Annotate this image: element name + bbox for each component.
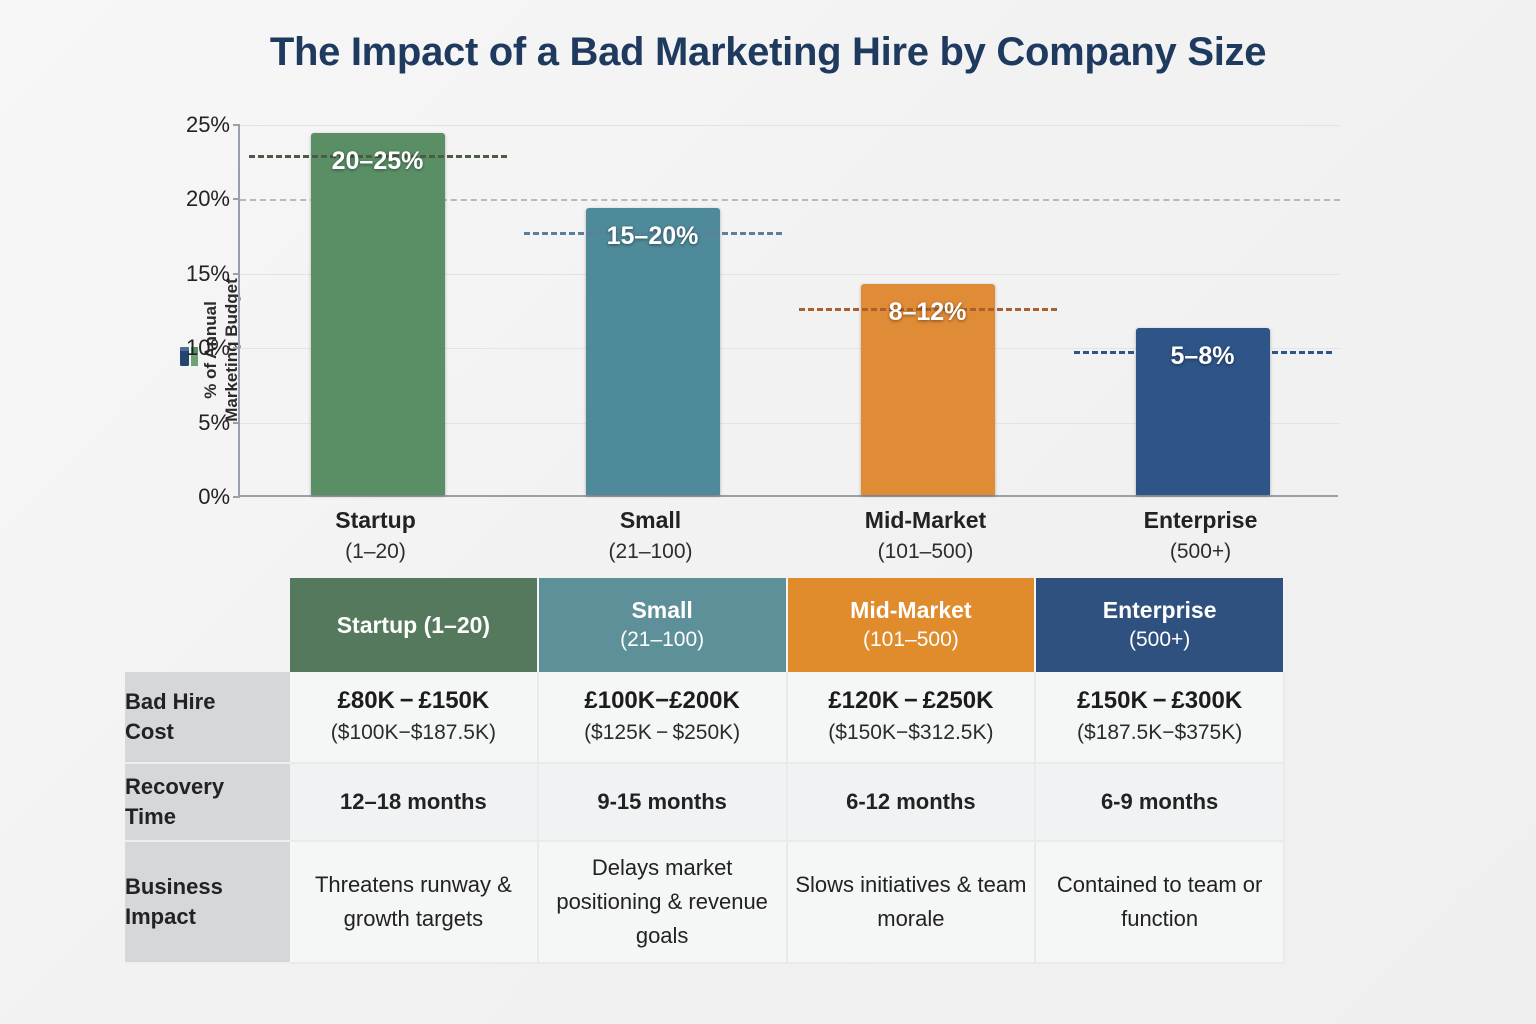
bar-small[interactable]: 15–20% [586,208,720,495]
plot-area: 0%5%10%15%20%25%20–25%15–20%8–12%5–8% [238,125,1338,497]
table-column-header-0: Startup (1–20) [290,578,539,672]
cell-text: 9-15 months [539,785,786,819]
x-axis-category-range: (500+) [1063,537,1338,567]
table-cell: 9-15 months [539,764,788,842]
cell-primary-value: £120K − £250K [788,685,1035,717]
column-header-name: Mid-Market [850,597,971,623]
table-row: Business ImpactThreatens runway & growth… [125,842,1285,964]
range-marker-line [249,155,507,158]
cell-secondary-value: ($150K−$312.5K) [788,717,1035,749]
y-axis-tick-label: 20% [160,186,230,212]
table-row-label: Recovery Time [125,764,290,842]
x-axis-category-name: Mid-Market [865,507,986,533]
table-body: Bad Hire Cost£80K − £150K($100K−$187.5K)… [125,672,1285,964]
cell-text: 12–18 months [290,785,537,819]
y-axis-tick-label: 0% [160,484,230,510]
table-cell: Slows initiatives & team morale [788,842,1037,964]
cell-secondary-value: ($125K − $250K) [539,717,786,749]
cell-primary-value: £80K − £150K [290,685,537,717]
cell-primary-value: £150K − £300K [1036,685,1283,717]
table-cell: Threatens runway & growth targets [290,842,539,964]
cell-secondary-value: ($187.5K−$375K) [1036,717,1283,749]
bar-value-label: 15–20% [538,222,768,251]
table-cell: 12–18 months [290,764,539,842]
x-axis-category-label: Enterprise(500+) [1063,505,1338,567]
cell-text: 6-9 months [1036,785,1283,819]
comparison-table: Startup (1–20)Small(21–100)Mid-Market(10… [125,578,1285,964]
table-row: Recovery Time12–18 months9-15 months6-12… [125,764,1285,842]
x-axis-category-range: (101–500) [788,537,1063,567]
range-marker-line [1074,351,1332,354]
table-cell: Contained to team or function [1036,842,1285,964]
cell-text: 6-12 months [788,785,1035,819]
table-column-header-2: Mid-Market(101–500) [788,578,1037,672]
table-cell: Delays market positioning & revenue goal… [539,842,788,964]
bar-value-label: 8–12% [813,298,1043,327]
column-header-range: (500+) [1036,625,1283,655]
cell-text: Delays market positioning & revenue goal… [539,851,786,953]
table-cell: £120K − £250K($150K−$312.5K) [788,672,1037,764]
y-axis-tick-label: 5% [160,410,230,436]
bar-startup[interactable]: 20–25% [311,133,445,495]
page-title: The Impact of a Bad Marketing Hire by Co… [0,30,1536,75]
y-axis-tick-mark [233,124,240,126]
y-axis-tick-mark [233,347,240,349]
table-cell: 6-12 months [788,764,1037,842]
y-axis-tick-mark [233,422,240,424]
table-corner-cell [125,578,290,672]
range-marker-line [799,308,1057,311]
column-header-range: (101–500) [788,625,1035,655]
cell-text: Slows initiatives & team morale [788,868,1035,936]
cell-primary-value: £100K−£200K [539,685,786,717]
table-row-label: Business Impact [125,842,290,964]
x-axis-category-range: (1–20) [238,537,513,567]
bar-value-label: 5–8% [1088,342,1318,371]
bar-value-label: 20–25% [263,147,493,176]
table-cell: 6-9 months [1036,764,1285,842]
x-axis-category-range: (21–100) [513,537,788,567]
cell-secondary-value: ($100K−$187.5K) [290,717,537,749]
cell-text: Contained to team or function [1036,868,1283,936]
bar-mid-market[interactable]: 8–12% [861,284,995,495]
y-axis-tick-mark [233,273,240,275]
y-axis-tick-label: 15% [160,261,230,287]
y-axis-tick-label: 25% [160,112,230,138]
infographic-root: The Impact of a Bad Marketing Hire by Co… [0,0,1536,1024]
y-axis-tick-label: 10% [160,335,230,361]
column-header-name: Small [631,597,692,623]
x-axis-category-label: Small(21–100) [513,505,788,567]
table-cell: £100K−£200K($125K − $250K) [539,672,788,764]
x-axis-category-name: Small [620,507,681,533]
x-axis-category-label: Mid-Market(101–500) [788,505,1063,567]
x-axis-category-name: Enterprise [1144,507,1258,533]
table-row-label: Bad Hire Cost [125,672,290,764]
table-column-header-1: Small(21–100) [539,578,788,672]
table-cell: £150K − £300K($187.5K−$375K) [1036,672,1285,764]
gridline [240,125,1340,126]
table-row: Bad Hire Cost£80K − £150K($100K−$187.5K)… [125,672,1285,764]
cell-text: Threatens runway & growth targets [290,868,537,936]
bar-chart: % of Annual Marketing Budget 0%5%10%15%2… [90,115,1340,565]
table-cell: £80K − £150K($100K−$187.5K) [290,672,539,764]
range-marker-line [524,232,782,235]
x-axis-category-name: Startup [335,507,416,533]
column-header-range: (21–100) [539,625,786,655]
x-axis-category-label: Startup(1–20) [238,505,513,567]
table-column-header-3: Enterprise(500+) [1036,578,1285,672]
table-header-row: Startup (1–20)Small(21–100)Mid-Market(10… [125,578,1285,672]
y-axis-tick-mark [233,496,240,498]
column-header-name: Enterprise [1103,597,1217,623]
y-axis-tick-mark [233,198,240,200]
column-header-name: Startup (1–20) [337,612,490,638]
